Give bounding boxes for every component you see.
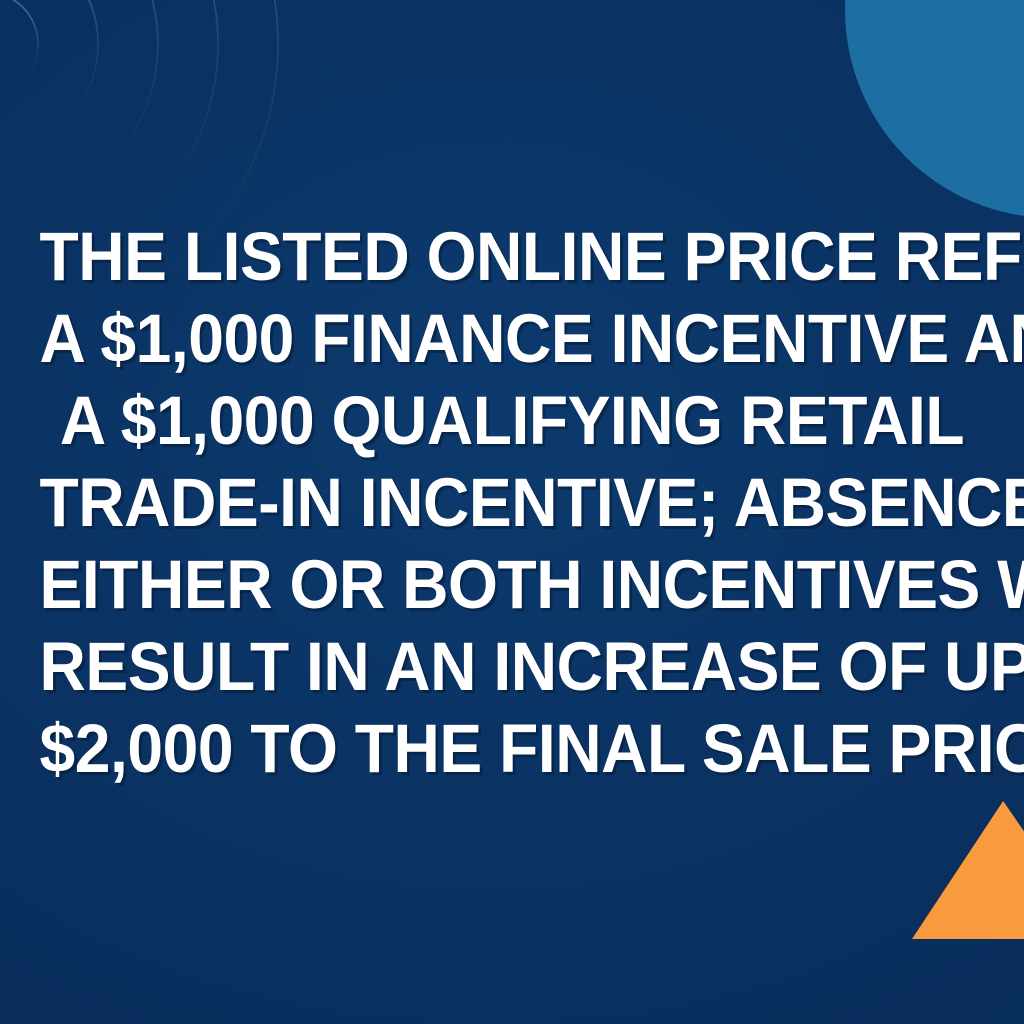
disclaimer-line-3: A $1,000 QUALIFYING RETAIL <box>40 380 985 462</box>
disclaimer-line-5: EITHER OR BOTH INCENTIVES WILL <box>40 544 985 626</box>
disclaimer-line-2: A $1,000 FINANCE INCENTIVE AND <box>40 298 985 380</box>
disclaimer-line-4: TRADE-IN INCENTIVE; ABSENCE OF <box>40 462 985 544</box>
promo-graphic-canvas: THE LISTED ONLINE PRICE REFLECTS A $1,00… <box>0 0 1024 1024</box>
disclaimer-headline: THE LISTED ONLINE PRICE REFLECTS A $1,00… <box>0 216 1024 790</box>
disclaimer-line-1: THE LISTED ONLINE PRICE REFLECTS <box>40 216 985 298</box>
disclaimer-line-7: $2,000 TO THE FINAL SALE PRICE. <box>40 708 985 790</box>
disclaimer-line-6: RESULT IN AN INCREASE OF UP TO <box>40 626 985 708</box>
